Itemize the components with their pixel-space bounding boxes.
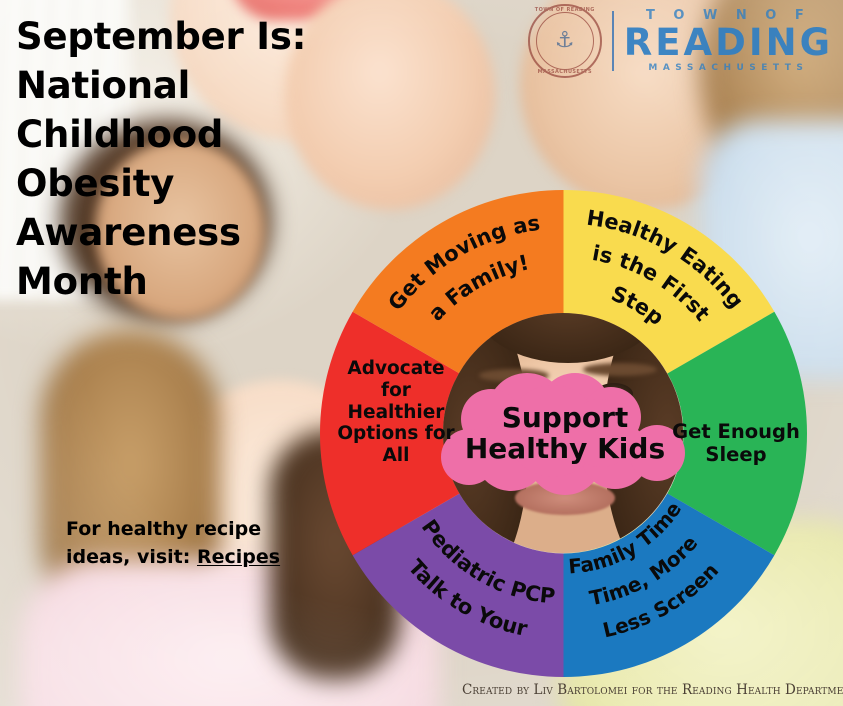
- town-of-reading-logo: TOWN OF READING MASSACHUSETTS ⚓ T O W N …: [528, 4, 833, 78]
- segment-label-line: Healthier: [326, 402, 466, 424]
- logo-divider: [612, 11, 614, 71]
- healthy-kids-wheel: Healthy Eatingis the FirstStepLess Scree…: [320, 190, 807, 677]
- segment-label-enough-sleep: Get EnoughSleep: [666, 420, 806, 466]
- segment-label-line: All: [326, 445, 466, 467]
- headline-line-4: Obesity: [16, 159, 346, 208]
- segment-label-line: Advocate: [326, 358, 466, 380]
- recipe-note-prefix: ideas, visit:: [66, 546, 197, 568]
- segment-label-advocate-healthier-options: AdvocateforHealthierOptions forAll: [326, 358, 466, 467]
- segment-label-line: Sleep: [666, 443, 806, 466]
- recipes-link[interactable]: Recipes: [197, 546, 280, 568]
- wordmark-reading: READING: [624, 24, 833, 61]
- segment-label-line: for: [326, 380, 466, 402]
- headline-line-1: September Is:: [16, 12, 346, 61]
- recipe-note-line-1: For healthy recipe: [66, 515, 336, 543]
- headline-line-5: Awareness: [16, 208, 346, 257]
- town-wordmark: T O W N O F READING MASSACHUSETTS: [624, 9, 833, 73]
- center-label-line-2: Healthy Kids: [465, 434, 665, 463]
- headline-line-3: Childhood: [16, 110, 346, 159]
- recipe-note: For healthy recipe ideas, visit: Recipes: [66, 515, 336, 571]
- town-seal-icon: TOWN OF READING MASSACHUSETTS ⚓: [528, 4, 602, 78]
- headline-line-2: National: [16, 61, 346, 110]
- credit-line: Created by Liv Bartolomei for the Readin…: [462, 682, 843, 698]
- center-label-line-1: Support: [502, 403, 629, 432]
- wordmark-town-of: T O W N O F: [646, 9, 811, 22]
- wordmark-massachusetts: MASSACHUSETTS: [648, 64, 808, 73]
- segment-label-line: Options for: [326, 423, 466, 445]
- recipe-note-line-2: ideas, visit: Recipes: [66, 543, 336, 571]
- segment-label-line: Get Enough: [666, 420, 806, 443]
- poster-canvas: September Is: National Childhood Obesity…: [0, 0, 843, 706]
- headline-line-6: Month: [16, 257, 346, 306]
- page-title: September Is: National Childhood Obesity…: [16, 12, 346, 306]
- anchor-icon: ⚓: [555, 30, 575, 52]
